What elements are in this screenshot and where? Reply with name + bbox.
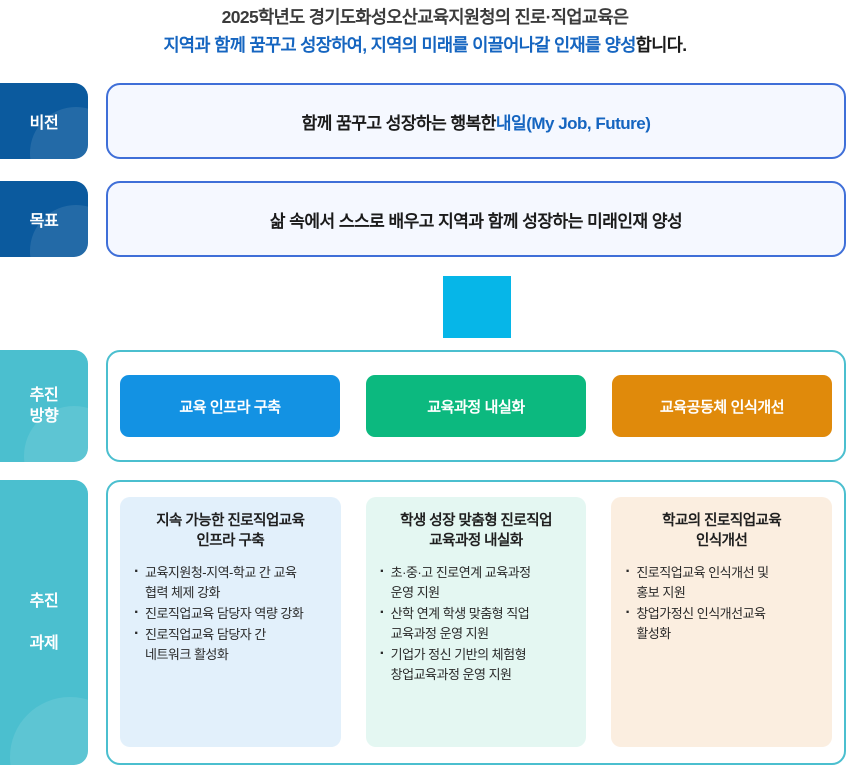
direction-pill-2-label: 교육과정 내실화 [427,396,525,417]
task-label-line-2: 과제 [30,623,59,665]
task-card-3[interactable]: 학교의 진로직업교육 인식개선 진로직업교육 인식개선 및 홍보 지원 창업가정… [611,497,832,747]
vision-panel: 함께 꿈꾸고 성장하는 행복한 내일(My Job, Future) [106,83,846,159]
direction-pill-1-label: 교육 인프라 구축 [179,396,280,417]
title-line-2-tail: 합니다. [636,35,687,55]
list-item: 교육지원청-지역-학교 간 교육 협력 체제 강화 [132,563,329,603]
goal-panel: 삶 속에서 스스로 배우고 지역과 함께 성장하는 미래인재 양성 [106,181,846,257]
direction-pill-group: 교육 인프라 구축 교육과정 내실화 교육공동체 인식개선 [120,375,832,437]
task-card-1-list: 교육지원청-지역-학교 간 교육 협력 체제 강화 진로직업교육 담당자 역량 … [132,563,329,666]
list-item: 진로직업교육 인식개선 및 홍보 지원 [623,563,820,603]
task-card-3-title: 학교의 진로직업교육 인식개선 [623,511,820,551]
task-card-3-list: 진로직업교육 인식개선 및 홍보 지원 창업가정신 인식개선교육 활성화 [623,563,820,645]
goal-text: 삶 속에서 스스로 배우고 지역과 함께 성장하는 미래인재 양성 [108,183,844,255]
page-title: 2025학년도 경기도화성오산교육지원청의 진로·직업교육은 지역과 함께 꿈꾸… [0,4,850,60]
list-item: 초·중·고 진로연계 교육과정 운영 지원 [378,563,575,603]
task-card-2-title: 학생 성장 맞춤형 진로직업 교육과정 내실화 [378,511,575,551]
task-card-2[interactable]: 학생 성장 맞춤형 진로직업 교육과정 내실화 초·중·고 진로연계 교육과정 … [366,497,587,747]
task-label-chip: 추진 과제 [0,480,88,765]
direction-label-chip: 추진 방향 [0,350,88,462]
down-arrow-connector [443,276,511,338]
direction-pill-2[interactable]: 교육과정 내실화 [366,375,586,437]
task-label-line-1: 추진 [30,581,59,623]
list-item: 창업가정신 인식개선교육 활성화 [623,604,820,644]
direction-pill-3[interactable]: 교육공동체 인식개선 [612,375,832,437]
infographic-page: 2025학년도 경기도화성오산교육지원청의 진로·직업교육은 지역과 함께 꿈꾸… [0,0,850,769]
task-card-1-title: 지속 가능한 진로직업교육 인프라 구축 [132,511,329,551]
direction-pill-1[interactable]: 교육 인프라 구축 [120,375,340,437]
title-line-2: 지역과 함께 꿈꾸고 성장하여, 지역의 미래를 이끌어나갈 인재를 양성합니다… [0,30,850,60]
vision-label-chip: 비전 [0,83,88,159]
title-line-1: 2025학년도 경기도화성오산교육지원청의 진로·직업교육은 [0,4,850,30]
title-line-2-highlight: 지역과 함께 꿈꾸고 성장하여, 지역의 미래를 이끌어나갈 인재를 양성 [163,35,635,55]
list-item: 기업가 정신 기반의 체험형 창업교육과정 운영 지원 [378,645,575,685]
vision-text: 함께 꿈꾸고 성장하는 행복한 내일(My Job, Future) [108,85,844,157]
direction-label-line-2: 방향 [30,406,59,427]
goal-label-chip: 목표 [0,181,88,257]
list-item: 진로직업교육 담당자 간 네트워크 활성화 [132,625,329,665]
task-card-2-list: 초·중·고 진로연계 교육과정 운영 지원 산학 연계 학생 맞춤형 직업 교육… [378,563,575,686]
vision-label: 비전 [30,109,59,133]
vision-text-plain: 함께 꿈꾸고 성장하는 행복한 [302,109,496,134]
vision-text-highlight: 내일(My Job, Future) [496,109,651,134]
chip-decoration-blob [10,697,88,765]
task-card-1[interactable]: 지속 가능한 진로직업교육 인프라 구축 교육지원청-지역-학교 간 교육 협력… [120,497,341,747]
direction-label-line-1: 추진 [30,385,59,406]
goal-label: 목표 [30,207,59,231]
task-card-group: 지속 가능한 진로직업교육 인프라 구축 교육지원청-지역-학교 간 교육 협력… [120,497,832,747]
list-item: 진로직업교육 담당자 역량 강화 [132,604,329,624]
direction-pill-3-label: 교육공동체 인식개선 [660,396,784,417]
list-item: 산학 연계 학생 맞춤형 직업 교육과정 운영 지원 [378,604,575,644]
